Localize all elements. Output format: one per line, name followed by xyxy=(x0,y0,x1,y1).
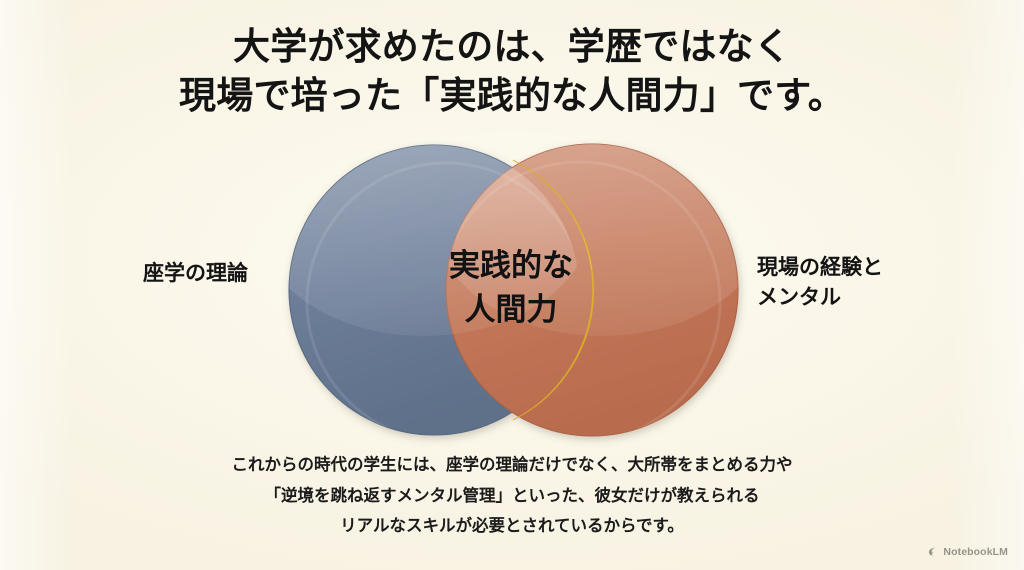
caption-line-1: これからの時代の学生には、座学の理論だけでなく、大所帯をまとめる力や xyxy=(0,450,1024,481)
caption-line-2: 「逆境を跳ね返すメンタル管理」といった、彼女だけが教えられる xyxy=(0,481,1024,512)
venn-label-right-line-1: 現場の経験と xyxy=(757,253,883,283)
venn-overlap-label: 実践的な 人間力 xyxy=(413,244,609,332)
title-line-1: 大学が求めたのは、学歴ではなく xyxy=(0,24,1024,73)
slide-canvas: 大学が求めたのは、学歴ではなく 現場で培った「実践的な人間力」です。 xyxy=(0,0,1024,570)
venn-label-left: 座学の理論 xyxy=(143,259,248,289)
venn-label-left-text: 座学の理論 xyxy=(143,259,248,289)
venn-overlap-line-1: 実践的な xyxy=(413,244,609,288)
notebooklm-watermark-label: NotebookLM xyxy=(943,546,1008,558)
caption-block: これからの時代の学生には、座学の理論だけでなく、大所帯をまとめる力や 「逆境を跳… xyxy=(0,450,1024,542)
page-title: 大学が求めたのは、学歴ではなく 現場で培った「実践的な人間力」です。 xyxy=(0,24,1024,122)
notebooklm-spark-icon xyxy=(926,545,939,558)
venn-label-right: 現場の経験と メンタル xyxy=(757,253,883,314)
venn-label-right-line-2: メンタル xyxy=(757,283,883,313)
title-line-2: 現場で培った「実践的な人間力」です。 xyxy=(0,73,1024,122)
notebooklm-watermark: NotebookLM xyxy=(926,545,1008,558)
venn-overlap-line-2: 人間力 xyxy=(413,288,609,332)
caption-line-3: リアルなスキルが必要とされているからです。 xyxy=(0,511,1024,542)
